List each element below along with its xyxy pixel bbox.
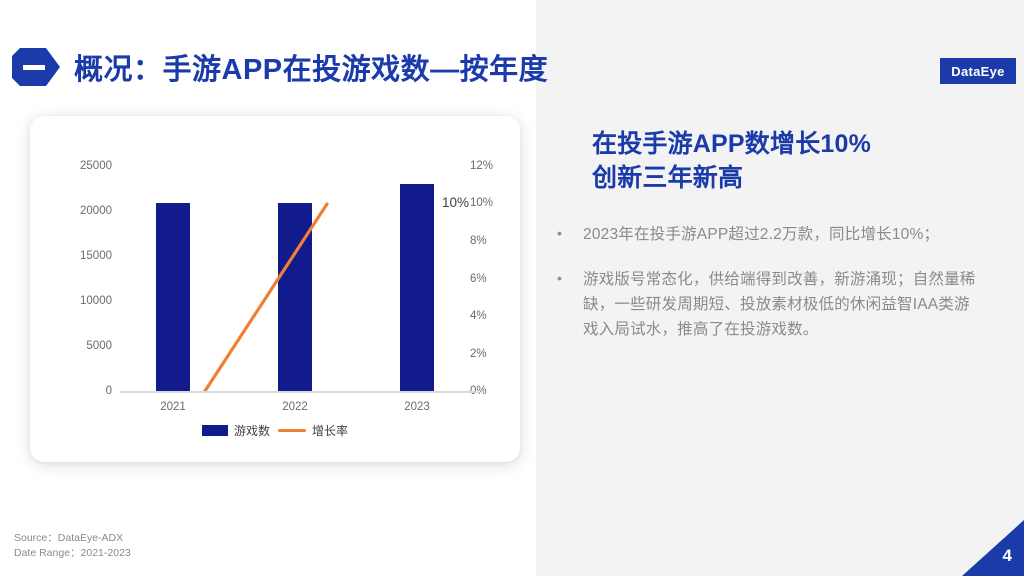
- growth-rate-line-series: [30, 116, 520, 462]
- bullet-marker-icon: •: [553, 267, 583, 342]
- legend-line-swatch-icon: [278, 429, 306, 433]
- x-axis-tick-2021: 2021: [160, 401, 186, 413]
- page-title: 概况：手游APP在投游戏数—按年度: [74, 46, 548, 88]
- bullet-item: • 游戏版号常态化，供给端得到改善，新游涌现；自然量稀缺，一些研发周期短、投放素…: [553, 267, 985, 342]
- slide-title-row: 概况：手游APP在投游戏数—按年度: [12, 44, 548, 90]
- legend-label-growth: 增长率: [312, 422, 348, 439]
- legend-label-games: 游戏数: [234, 422, 270, 439]
- footer-source: Source：DataEye-ADX: [14, 531, 131, 546]
- chart-legend: 游戏数 增长率: [30, 422, 520, 439]
- right-panel-heading-line2: 创新三年新高: [592, 162, 992, 196]
- badge-dash-icon: [23, 65, 45, 70]
- data-label-2023-growth: 10%: [442, 195, 469, 210]
- section-number-badge-icon: [12, 48, 60, 86]
- x-axis-tick-2022: 2022: [282, 401, 308, 413]
- right-panel-heading: 在投手游APP数增长10% 创新三年新高: [592, 128, 992, 195]
- bullet-text-1: 2023年在投手游APP超过2.2万款，同比增长10%；: [583, 222, 985, 247]
- footer-note: Source：DataEye-ADX Date Range：2021-2023: [14, 531, 131, 561]
- x-axis-baseline: [120, 391, 478, 393]
- legend-item-games[interactable]: 游戏数: [202, 422, 270, 439]
- bullet-item: • 2023年在投手游APP超过2.2万款，同比增长10%；: [553, 222, 985, 247]
- legend-item-growth[interactable]: 增长率: [278, 422, 348, 439]
- right-panel-heading-line1: 在投手游APP数增长10%: [592, 128, 992, 162]
- legend-bar-swatch-icon: [202, 425, 228, 436]
- logo-text: DataEye: [951, 64, 1004, 79]
- chart-plot-area: 25000 20000 15000 10000 5000 0 12% 10% 8…: [30, 116, 520, 462]
- x-axis-tick-2023: 2023: [404, 401, 430, 413]
- bullet-text-2: 游戏版号常态化，供给端得到改善，新游涌现；自然量稀缺，一些研发周期短、投放素材极…: [583, 267, 985, 342]
- slide-canvas: 概况：手游APP在投游戏数—按年度 DataEye 25000 20000 15…: [0, 0, 1024, 576]
- bullet-marker-icon: •: [553, 222, 583, 247]
- footer-date-range: Date Range：2021-2023: [14, 546, 131, 561]
- dataeye-logo: DataEye: [940, 58, 1016, 84]
- chart-card: 25000 20000 15000 10000 5000 0 12% 10% 8…: [30, 116, 520, 462]
- page-number: 4: [1003, 546, 1012, 566]
- right-panel-bullets: • 2023年在投手游APP超过2.2万款，同比增长10%； • 游戏版号常态化…: [553, 222, 985, 362]
